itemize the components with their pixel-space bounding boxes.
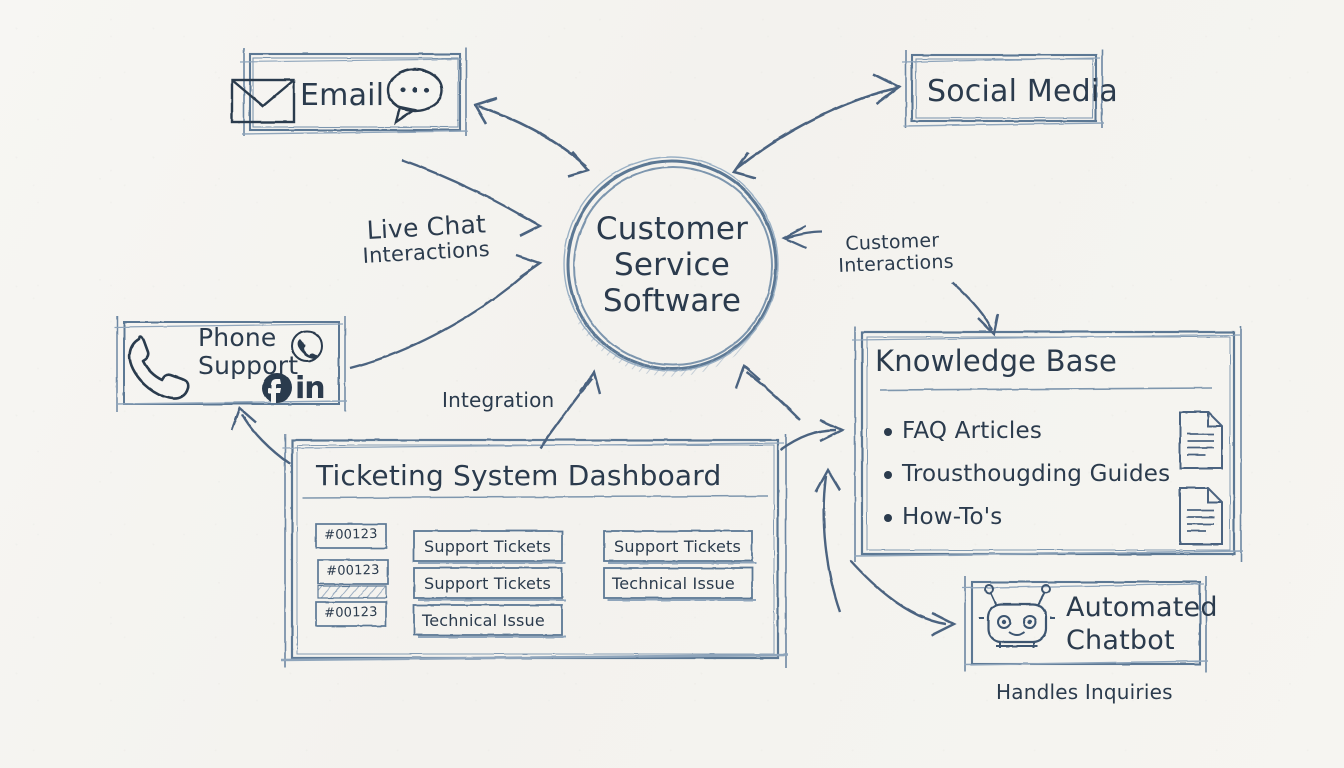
ticket-tile-label: Support Tickets bbox=[424, 537, 551, 556]
text-layer: Customer Service Software Email Social M… bbox=[0, 0, 1344, 768]
chatbot-line-2: Chatbot bbox=[1066, 625, 1175, 656]
knowledge-base-bullet: Trousthougding Guides bbox=[902, 461, 1170, 487]
phone-support-line-2: Support bbox=[198, 351, 298, 380]
ticket-id-label: #00123 bbox=[326, 563, 380, 579]
center-line-2: Service bbox=[614, 247, 730, 283]
center-line-3: Software bbox=[603, 283, 741, 319]
ticket-tile-label: Technical Issue bbox=[612, 574, 735, 593]
email-label: Email bbox=[300, 78, 384, 113]
knowledge-base-title: Knowledge Base bbox=[875, 344, 1117, 378]
center-circle-label: Customer Service Software bbox=[556, 192, 788, 338]
center-line-1: Customer bbox=[596, 211, 748, 247]
linkedin-icon: in bbox=[295, 371, 325, 406]
ticket-tile-label: Support Tickets bbox=[614, 537, 741, 556]
chatbot-caption: Handles Inquiries bbox=[996, 680, 1173, 704]
integration-label: Integration bbox=[442, 388, 554, 412]
chatbot-line-1: Automated bbox=[1066, 592, 1218, 623]
customer-interactions-line2: Interactions bbox=[838, 251, 954, 277]
social-media-label: Social Media bbox=[927, 74, 1118, 109]
ticket-id-label: #00123 bbox=[324, 605, 378, 621]
ticket-id-label: #00123 bbox=[324, 527, 378, 543]
ticket-tile-label: Technical Issue bbox=[422, 611, 545, 630]
phone-support-line-1: Phone bbox=[198, 323, 276, 352]
ticket-tile-label: Support Tickets bbox=[424, 574, 551, 593]
knowledge-base-bullet: How-To's bbox=[902, 504, 1002, 530]
knowledge-base-bullet: FAQ Articles bbox=[902, 418, 1042, 444]
dashboard-title: Ticketing System Dashboard bbox=[316, 459, 721, 492]
